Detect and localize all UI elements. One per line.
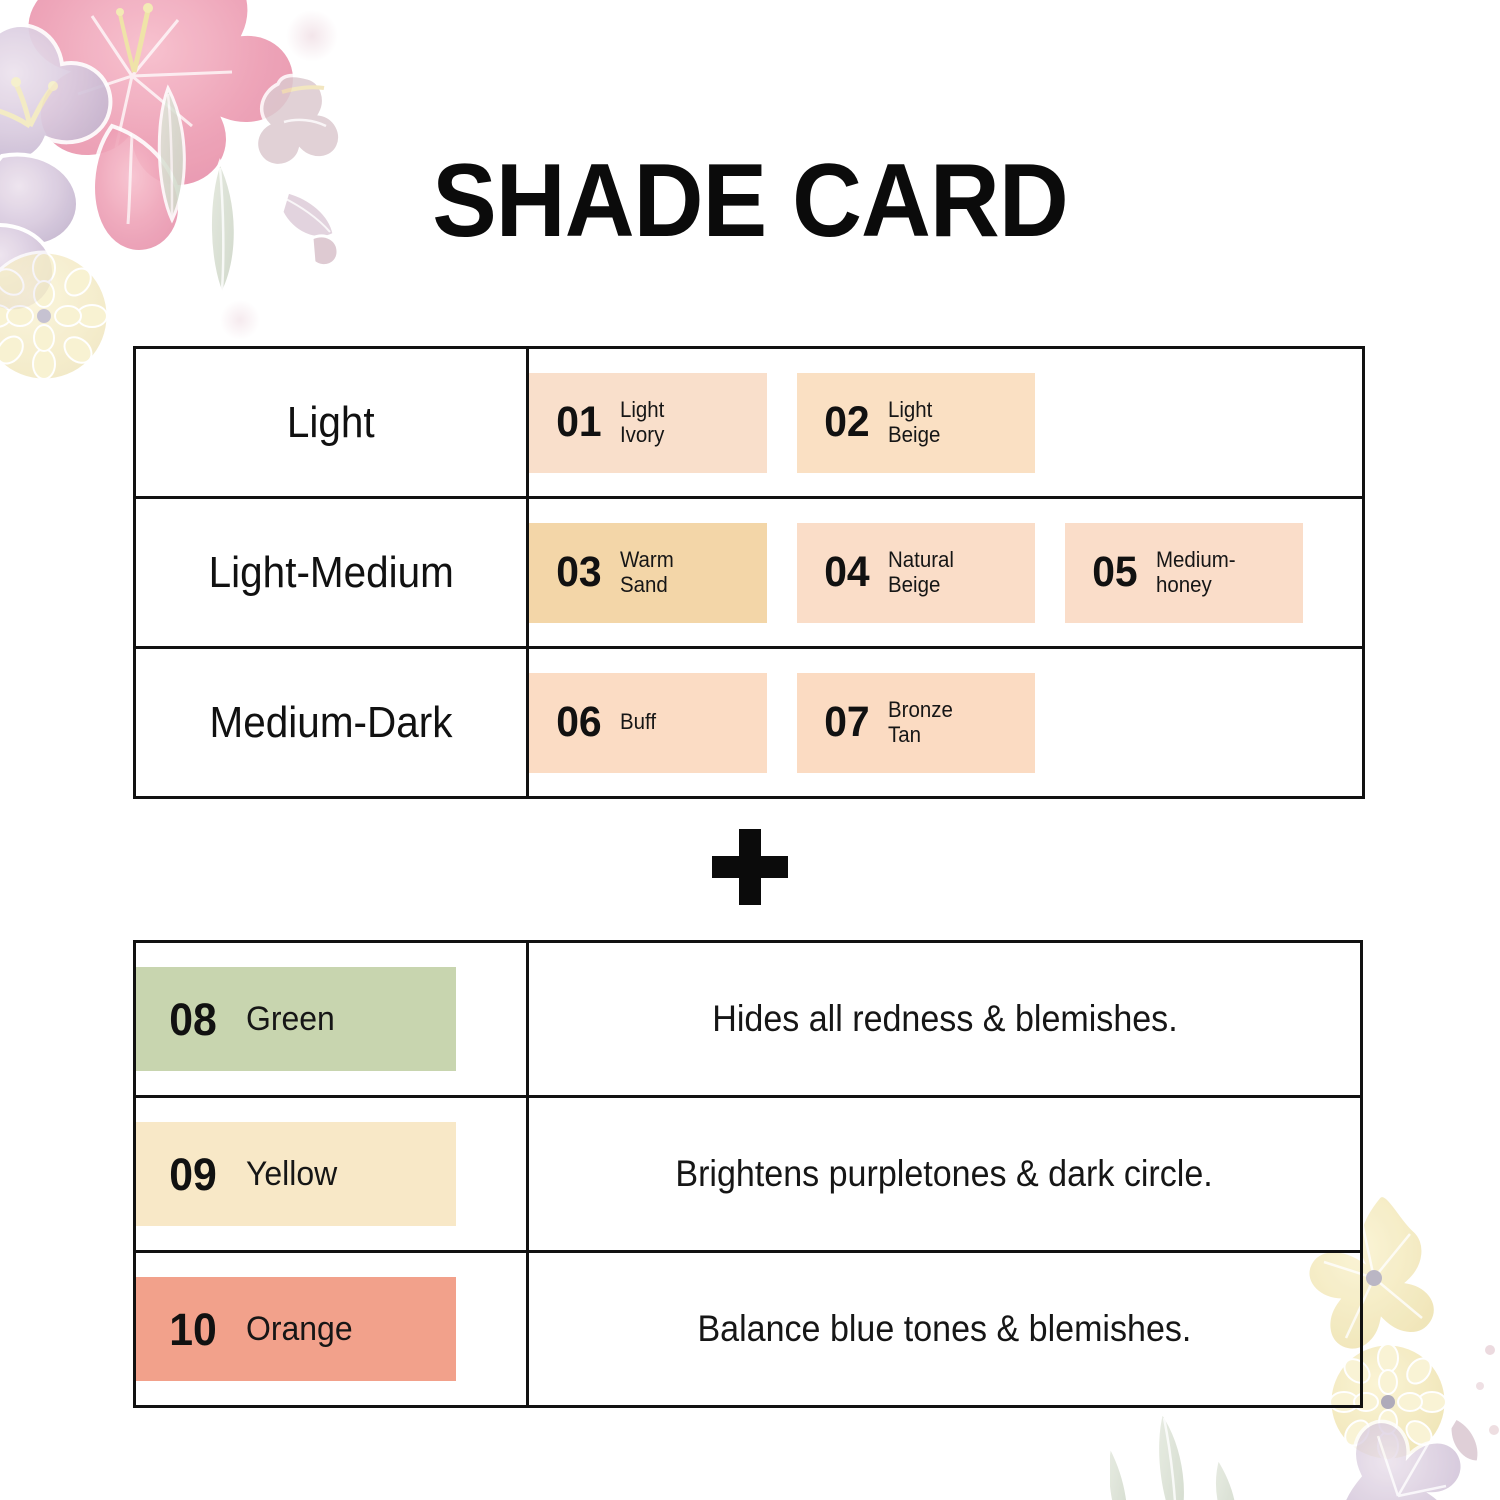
- tone-swatch-cell-light: 01 Light Ivory 02 Light Beige: [528, 348, 1364, 498]
- tone-label: Light-Medium: [208, 548, 453, 598]
- table-row: Light-Medium 03 Warm Sand 04 Natural Bei…: [135, 498, 1364, 648]
- shade-name: Warm Sand: [620, 548, 674, 597]
- corrector-swatch-10[interactable]: 10 Orange: [136, 1277, 456, 1381]
- corrector-swatch-cell-10: 10 Orange: [135, 1252, 528, 1407]
- shade-swatch-03[interactable]: 03 Warm Sand: [529, 523, 767, 623]
- shade-name: Light Beige: [888, 398, 940, 447]
- swatch-row: 01 Light Ivory 02 Light Beige: [529, 373, 1362, 473]
- shade-name: Buff: [620, 710, 656, 735]
- shade-name: Light Ivory: [620, 398, 664, 447]
- swatch-row: 03 Warm Sand 04 Natural Beige 05 Medium-…: [529, 523, 1362, 623]
- tone-swatch-cell-light-medium: 03 Warm Sand 04 Natural Beige 05 Medium-…: [528, 498, 1364, 648]
- shade-number: 02: [824, 401, 869, 444]
- corrector-description: Balance blue tones & blemishes.: [698, 1308, 1192, 1350]
- table-row: Light 01 Light Ivory 02 Light Beige: [135, 348, 1364, 498]
- tone-swatch-cell-medium-dark: 06 Buff 07 Bronze Tan: [528, 648, 1364, 798]
- corrector-shade-table: 08 Green Hides all redness & blemishes. …: [133, 940, 1363, 1408]
- tone-label-cell-medium-dark: Medium-Dark: [135, 648, 528, 798]
- shade-name: Medium- honey: [1156, 548, 1236, 597]
- plus-icon-vertical-bar: [739, 829, 761, 905]
- shade-swatch-01[interactable]: 01 Light Ivory: [529, 373, 767, 473]
- shade-swatch-05[interactable]: 05 Medium- honey: [1065, 523, 1303, 623]
- corrector-swatch-cell-08: 08 Green: [135, 942, 528, 1097]
- shade-name: Natural Beige: [888, 548, 954, 597]
- shade-number: 06: [556, 701, 601, 744]
- corrector-name: Green: [246, 1000, 335, 1038]
- page-title: SHADE CARD: [53, 148, 1448, 254]
- corrector-swatch-09[interactable]: 09 Yellow: [136, 1122, 456, 1226]
- shade-swatch-07[interactable]: 07 Bronze Tan: [797, 673, 1035, 773]
- shade-number: 01: [556, 401, 601, 444]
- tone-label: Light: [287, 398, 375, 448]
- corrector-name: Orange: [246, 1310, 353, 1348]
- corrector-number: 08: [169, 997, 217, 1042]
- plus-icon: [712, 829, 788, 905]
- shade-number: 03: [556, 551, 601, 594]
- shade-swatch-04[interactable]: 04 Natural Beige: [797, 523, 1035, 623]
- corrector-description: Hides all redness & blemishes.: [712, 998, 1177, 1040]
- tone-label-cell-light-medium: Light-Medium: [135, 498, 528, 648]
- table-row: 10 Orange Balance blue tones & blemishes…: [135, 1252, 1362, 1407]
- corrector-number: 10: [169, 1307, 217, 1352]
- corrector-swatch-cell-09: 09 Yellow: [135, 1097, 528, 1252]
- table-row: 09 Yellow Brightens purpletones & dark c…: [135, 1097, 1362, 1252]
- shade-number: 05: [1092, 551, 1137, 594]
- tone-label-cell-light: Light: [135, 348, 528, 498]
- tone-shade-table: Light 01 Light Ivory 02 Light Beige: [133, 346, 1365, 799]
- corrector-description-cell-08: Hides all redness & blemishes.: [528, 942, 1362, 1097]
- shade-number: 07: [824, 701, 869, 744]
- shade-swatch-06[interactable]: 06 Buff: [529, 673, 767, 773]
- swatch-row: 06 Buff 07 Bronze Tan: [529, 673, 1362, 773]
- tone-label: Medium-Dark: [210, 698, 453, 748]
- corrector-name: Yellow: [246, 1155, 337, 1193]
- shade-name: Bronze Tan: [888, 698, 953, 747]
- shade-number: 04: [824, 551, 869, 594]
- table-row: 08 Green Hides all redness & blemishes.: [135, 942, 1362, 1097]
- shade-swatch-02[interactable]: 02 Light Beige: [797, 373, 1035, 473]
- table-row: Medium-Dark 06 Buff 07 Bronze Tan: [135, 648, 1364, 798]
- corrector-swatch-08[interactable]: 08 Green: [136, 967, 456, 1071]
- corrector-number: 09: [169, 1152, 217, 1197]
- corrector-description-cell-09: Brightens purpletones & dark circle.: [528, 1097, 1362, 1252]
- corrector-description: Brightens purpletones & dark circle.: [676, 1153, 1213, 1195]
- corrector-description-cell-10: Balance blue tones & blemishes.: [528, 1252, 1362, 1407]
- shade-card-page: SHADE CARD Light 01 Light Ivory 02: [0, 0, 1500, 1500]
